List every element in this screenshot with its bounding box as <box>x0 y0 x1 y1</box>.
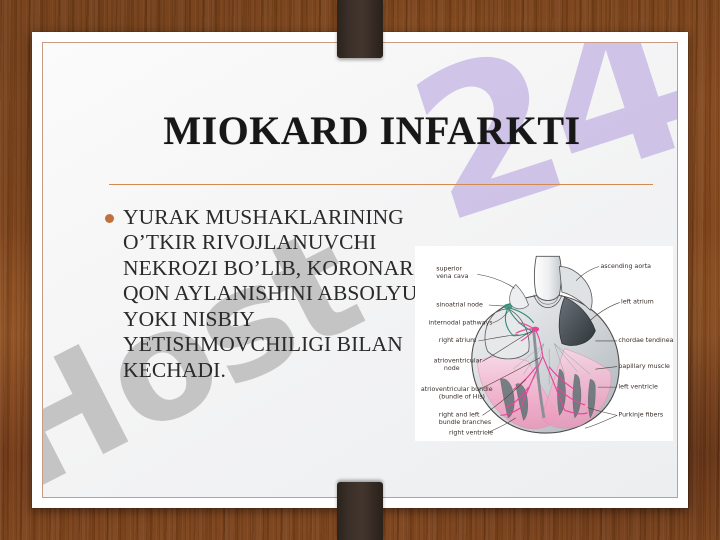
clip-top <box>337 0 383 58</box>
svg-text:atrioventricular: atrioventricular <box>434 358 483 365</box>
bullet-dot-icon <box>105 214 114 223</box>
svg-text:(bundle of His): (bundle of His) <box>439 393 485 400</box>
svg-text:sinoatrial node: sinoatrial node <box>436 301 483 308</box>
slide-panel: 24 Host MIOKARD INFARKTI YURAK MUSHAKLAR… <box>32 32 688 508</box>
svg-text:Purkinje fibers: Purkinje fibers <box>618 412 663 419</box>
svg-text:atrioventricular bundle: atrioventricular bundle <box>421 386 493 393</box>
svg-text:superior: superior <box>436 265 462 272</box>
svg-text:left ventricle: left ventricle <box>618 383 658 390</box>
svg-text:chordae tendineae: chordae tendineae <box>618 337 673 344</box>
clip-bottom <box>337 482 383 540</box>
svg-text:bundle branches: bundle branches <box>439 419 491 426</box>
slide-panel-inner: 24 Host MIOKARD INFARKTI YURAK MUSHAKLAR… <box>42 42 678 498</box>
svg-text:left atrium: left atrium <box>621 299 654 306</box>
heart-conduction-svg: superior vena cava sinoatrial node inter… <box>415 246 673 441</box>
svg-text:ascending aorta: ascending aorta <box>600 263 651 270</box>
heart-diagram-image: superior vena cava sinoatrial node inter… <box>415 246 673 441</box>
svg-text:vena cava: vena cava <box>436 273 468 280</box>
slide-stage: 24 Host MIOKARD INFARKTI YURAK MUSHAKLAR… <box>0 0 720 540</box>
page-title: MIOKARD INFARKTI <box>91 107 653 154</box>
bullet-list-item: YURAK MUSHAKLARINING O’TKIR RIVOJLANUVCH… <box>105 205 435 383</box>
svg-text:node: node <box>444 365 460 372</box>
title-divider <box>109 184 653 185</box>
svg-text:right and left: right and left <box>439 412 480 419</box>
svg-text:internodal pathways: internodal pathways <box>429 319 493 326</box>
svg-text:right atrium: right atrium <box>439 337 476 344</box>
bullet-text: YURAK MUSHAKLARINING O’TKIR RIVOJLANUVCH… <box>123 205 435 383</box>
slide-content: MIOKARD INFARKTI YURAK MUSHAKLARINING O’… <box>43 43 677 497</box>
svg-text:papillary muscle: papillary muscle <box>618 363 670 370</box>
